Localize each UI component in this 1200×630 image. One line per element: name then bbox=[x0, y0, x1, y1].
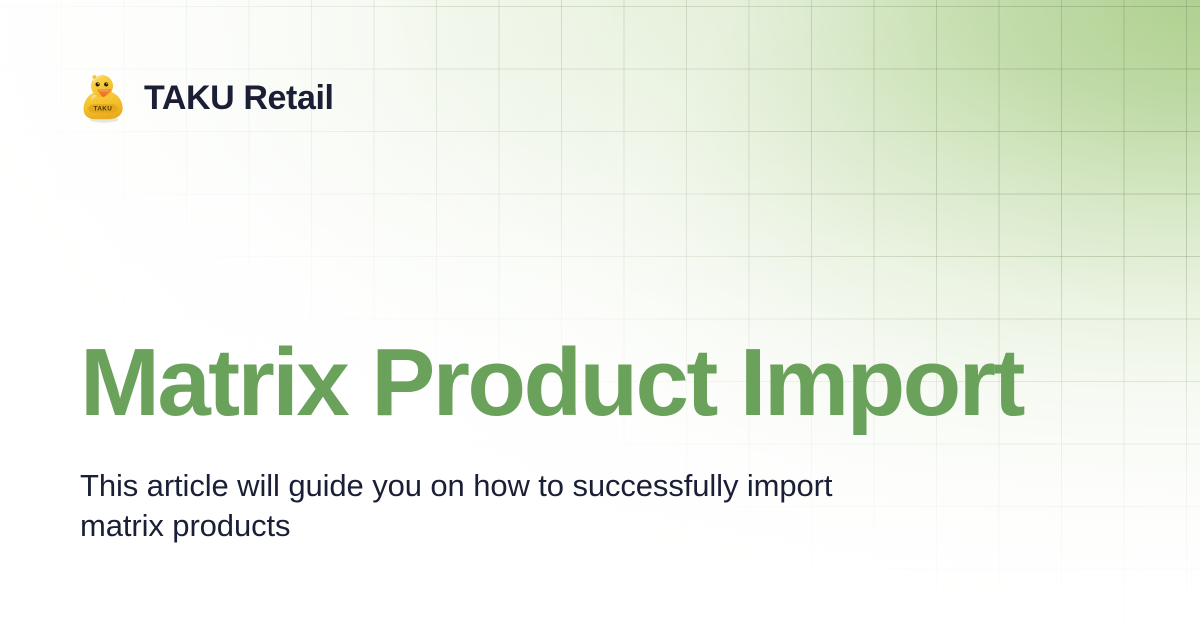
brand-lockup: TAKU TAKU Retail bbox=[80, 72, 334, 124]
rubber-duck-icon: TAKU bbox=[80, 72, 126, 124]
og-card: TAKU TAKU Retail Matrix Product Import T… bbox=[0, 0, 1200, 630]
svg-text:TAKU: TAKU bbox=[94, 106, 113, 113]
brand-name: TAKU Retail bbox=[144, 81, 334, 115]
card-content: TAKU TAKU Retail Matrix Product Import T… bbox=[0, 0, 1200, 630]
page-subtitle: This article will guide you on how to su… bbox=[80, 466, 920, 546]
page-title: Matrix Product Import bbox=[80, 333, 1120, 433]
